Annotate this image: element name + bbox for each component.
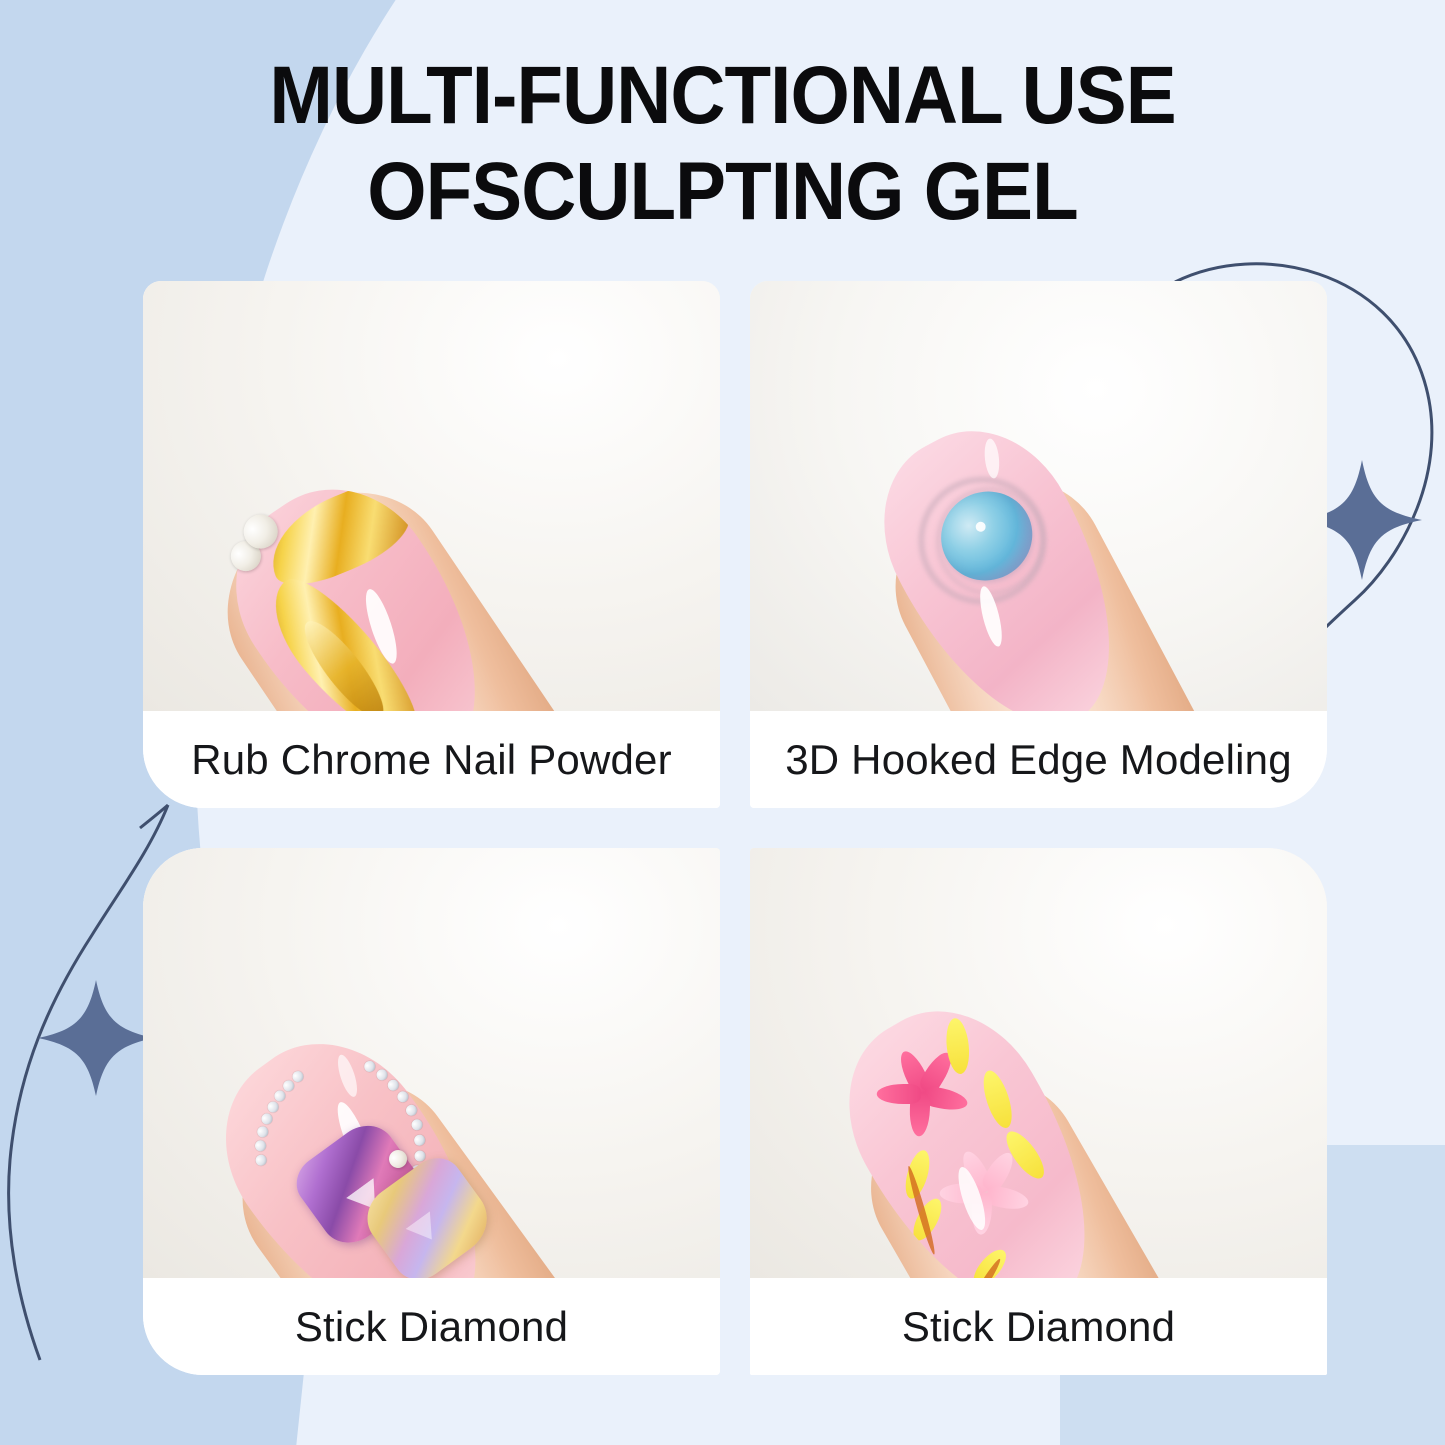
nail-gloss-top [334,1053,361,1099]
caption-text: Stick Diamond [902,1303,1175,1351]
caption-text: 3D Hooked Edge Modeling [785,736,1292,784]
poster-root: MULTI-FUNCTIONAL USE OFSCULPTING GEL [0,0,1445,1445]
card-caption: 3D Hooked Edge Modeling [750,711,1327,808]
caption-text: Rub Chrome Nail Powder [191,736,672,784]
card-caption: Rub Chrome Nail Powder [143,711,720,808]
feature-card-3d-hooked-edge-modeling[interactable]: 3D Hooked Edge Modeling [750,281,1327,808]
background-right-band-tall [1325,1145,1445,1445]
card-caption: Stick Diamond [143,1278,720,1375]
nail-gloss-top [983,438,1001,479]
gem-facet [406,1211,444,1248]
caption-text: Stick Diamond [295,1303,568,1351]
yellow-stroke [978,1067,1017,1131]
feature-card-rub-chrome-nail-powder[interactable]: Rub Chrome Nail Powder [143,281,720,808]
feature-card-stick-diamond-left[interactable]: Stick Diamond [143,848,720,1375]
nail-photo-hooked-edge [750,281,1327,711]
page-title: MULTI-FUNCTIONAL USE OFSCULPTING GEL [0,48,1445,240]
card-caption: Stick Diamond [750,1278,1327,1375]
title-line-2: OFSCULPTING GEL [51,144,1395,240]
feature-card-stick-diamond-right[interactable]: Stick Diamond [750,848,1327,1375]
nail-photo-rub-chrome [143,281,720,711]
title-line-1: MULTI-FUNCTIONAL USE [51,48,1395,144]
gold-chrome-swirl-upper [256,473,419,596]
feature-card-grid: Rub Chrome Nail Powder [143,281,1327,1375]
nail-photo-flower-art [750,848,1327,1278]
nail-photo-stick-diamond-gems [143,848,720,1278]
